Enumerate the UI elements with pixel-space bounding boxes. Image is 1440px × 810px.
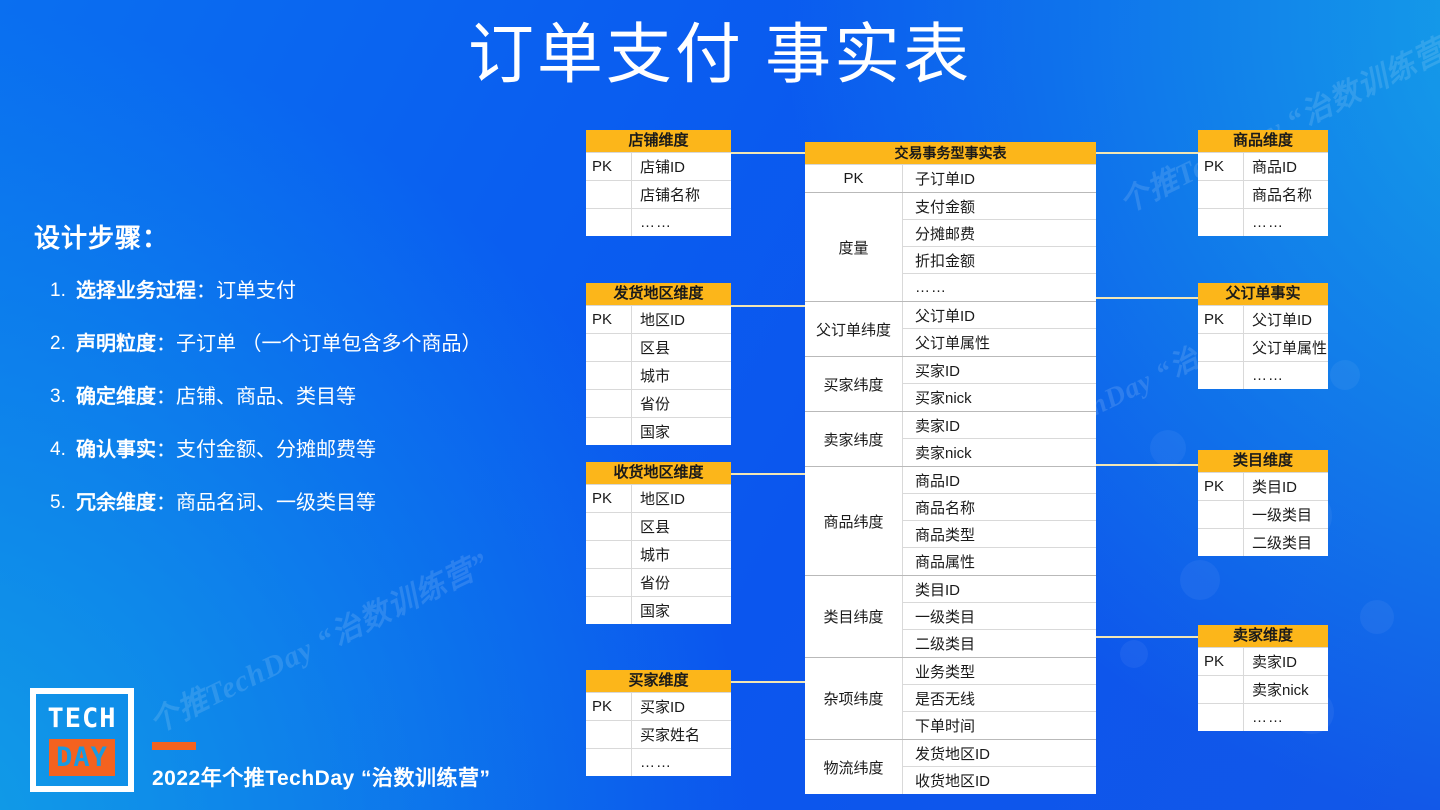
table-row: 二级类目 [1198, 529, 1328, 556]
fact-table-group: 买家纬度买家ID买家nick [805, 357, 1096, 412]
decorative-bubble [1150, 430, 1186, 466]
step-sep: ： [196, 280, 216, 302]
row-value: 区县 [632, 513, 731, 540]
fact-field: 商品属性 [903, 548, 1096, 575]
table-row: PK卖家ID [1198, 648, 1328, 676]
fact-table-body: PK子订单ID度量支付金额分摊邮费折扣金额……父订单纬度父订单ID父订单属性买家… [805, 165, 1096, 794]
table-row: 城市 [586, 362, 731, 390]
step-label: 冗余维度 [76, 492, 156, 514]
row-key: PK [586, 693, 632, 720]
dimension-table-title: 收货地区维度 [586, 462, 731, 485]
step-value: 店铺、商品、类目等 [176, 386, 356, 408]
decorative-bubble [1360, 600, 1394, 634]
row-value: 店铺ID [632, 153, 731, 180]
row-key [586, 334, 632, 361]
step-label: 声明粒度 [76, 333, 156, 355]
fact-table-group: 杂项纬度业务类型是否无线下单时间 [805, 658, 1096, 740]
fact-group-key: PK [805, 165, 903, 192]
fact-field: 是否无线 [903, 685, 1096, 712]
connector-line-seller [1096, 636, 1198, 638]
row-value: 地区ID [632, 485, 731, 512]
fact-field: 商品ID [903, 467, 1096, 494]
row-value: 商品名称 [1244, 181, 1328, 208]
table-row: 城市 [586, 541, 731, 569]
connector-line-recv-region [731, 473, 805, 475]
row-value: 一级类目 [1244, 501, 1328, 528]
fact-table-group: 物流纬度发货地区ID收货地区ID [805, 740, 1096, 794]
fact-field: 卖家nick [903, 439, 1096, 466]
table-row: PK父订单ID [1198, 306, 1328, 334]
fact-table-group: 卖家纬度卖家ID卖家nick [805, 412, 1096, 467]
fact-field: 子订单ID [903, 165, 1096, 192]
dimension-table-title: 父订单事实 [1198, 283, 1328, 306]
fact-table-group: PK子订单ID [805, 165, 1096, 193]
page-title: 订单支付 事实表 [0, 16, 1440, 94]
design-steps-heading: 设计步骤： [34, 218, 550, 255]
row-key [1198, 209, 1244, 236]
table-row: 国家 [586, 597, 731, 624]
row-key: PK [586, 485, 632, 512]
fact-table-parent-order: 父订单事实PK父订单ID父订单属性…… [1198, 283, 1328, 389]
table-row: …… [1198, 362, 1328, 389]
row-value: …… [1244, 704, 1328, 731]
table-row: 省份 [586, 390, 731, 418]
row-value: 国家 [632, 597, 731, 624]
dimension-table-seller: 卖家维度PK卖家ID卖家nick…… [1198, 625, 1328, 731]
table-row: 买家姓名 [586, 721, 731, 749]
row-key [586, 569, 632, 596]
fact-group-key: 商品纬度 [805, 467, 903, 575]
fact-table-title: 交易事务型事实表 [805, 142, 1096, 165]
fact-field: 买家nick [903, 384, 1096, 411]
table-row: 店铺名称 [586, 181, 731, 209]
techday-logo: TECH DAY [30, 688, 134, 792]
row-key [586, 362, 632, 389]
fact-field: 折扣金额 [903, 247, 1096, 274]
row-value: 卖家ID [1244, 648, 1328, 675]
fact-group-values: 子订单ID [903, 165, 1096, 192]
fact-field: …… [903, 274, 1096, 301]
row-value: …… [632, 749, 731, 776]
step-sep: ： [156, 492, 176, 514]
table-row: 一级类目 [1198, 501, 1328, 529]
dimension-table-item: 商品维度PK商品ID商品名称…… [1198, 130, 1328, 236]
fact-field: 收货地区ID [903, 767, 1096, 794]
row-key [586, 390, 632, 417]
connector-line-buyer [731, 681, 805, 683]
footer-text: 2022年个推TechDay “治数训练营” [152, 762, 491, 792]
row-key [586, 513, 632, 540]
connector-line-ship-region [731, 305, 805, 307]
fact-field: 父订单ID [903, 302, 1096, 329]
fact-group-values: 业务类型是否无线下单时间 [903, 658, 1096, 739]
fact-group-key: 父订单纬度 [805, 302, 903, 356]
row-key [1198, 362, 1244, 389]
row-key [586, 597, 632, 624]
step-value: 订单支付 [216, 280, 296, 302]
row-value: 国家 [632, 418, 731, 445]
fact-group-key: 物流纬度 [805, 740, 903, 794]
row-key [1198, 181, 1244, 208]
row-value: 父订单属性 [1244, 334, 1328, 361]
row-value: 父订单ID [1244, 306, 1328, 333]
step-label: 选择业务过程 [76, 280, 196, 302]
dimension-table-category: 类目维度PK类目ID一级类目二级类目 [1198, 450, 1328, 556]
row-key [1198, 529, 1244, 556]
fact-field: 商品类型 [903, 521, 1096, 548]
row-value: 地区ID [632, 306, 731, 333]
table-row: 区县 [586, 334, 731, 362]
connector-line-item [1096, 152, 1198, 154]
fact-field: 商品名称 [903, 494, 1096, 521]
connector-line-shop [731, 152, 805, 154]
fact-table: 交易事务型事实表 PK子订单ID度量支付金额分摊邮费折扣金额……父订单纬度父订单… [805, 142, 1096, 794]
step-value: 支付金额、分摊邮费等 [176, 439, 376, 461]
slide-canvas: 个推TechDay “治数训练营” 个推TechDay “治数训练营” 个推Te… [0, 0, 1440, 810]
table-row: 省份 [586, 569, 731, 597]
fact-field: 分摊邮费 [903, 220, 1096, 247]
row-key [586, 541, 632, 568]
row-value: …… [632, 209, 731, 236]
row-value: 省份 [632, 390, 731, 417]
list-item: 声明粒度：子订单 （一个订单包含多个商品） [76, 332, 550, 357]
fact-group-values: 类目ID一级类目二级类目 [903, 576, 1096, 657]
step-value: 商品名词、一级类目等 [176, 492, 376, 514]
step-sep: ： [156, 386, 176, 408]
fact-group-key: 类目纬度 [805, 576, 903, 657]
row-value: 二级类目 [1244, 529, 1328, 556]
step-label: 确定维度 [76, 386, 156, 408]
fact-field: 卖家ID [903, 412, 1096, 439]
fact-field: 类目ID [903, 576, 1096, 603]
row-key: PK [586, 306, 632, 333]
table-row: 区县 [586, 513, 731, 541]
list-item: 冗余维度：商品名词、一级类目等 [76, 491, 550, 516]
table-row: …… [1198, 704, 1328, 731]
footer-accent-bar [152, 742, 196, 750]
row-value: 商品ID [1244, 153, 1328, 180]
fact-field: 业务类型 [903, 658, 1096, 685]
fact-group-values: 买家ID买家nick [903, 357, 1096, 411]
table-row: …… [586, 749, 731, 776]
row-key [1198, 501, 1244, 528]
row-value: …… [1244, 362, 1328, 389]
fact-table-group: 商品纬度商品ID商品名称商品类型商品属性 [805, 467, 1096, 576]
row-value: 城市 [632, 362, 731, 389]
logo-day-text: DAY [49, 739, 115, 776]
row-key [1198, 334, 1244, 361]
table-row: 国家 [586, 418, 731, 445]
table-row: PK地区ID [586, 485, 731, 513]
fact-field: 下单时间 [903, 712, 1096, 739]
design-steps-panel: 设计步骤： 选择业务过程：订单支付 声明粒度：子订单 （一个订单包含多个商品） … [30, 218, 550, 544]
table-row: 父订单属性 [1198, 334, 1328, 362]
fact-table-group: 父订单纬度父订单ID父订单属性 [805, 302, 1096, 357]
logo-tech-text: TECH [47, 705, 116, 732]
decorative-bubble [1180, 560, 1220, 600]
fact-group-values: 卖家ID卖家nick [903, 412, 1096, 466]
dimension-table-recv-region: 收货地区维度PK地区ID区县城市省份国家 [586, 462, 731, 624]
table-row: …… [586, 209, 731, 236]
row-key [586, 181, 632, 208]
row-key: PK [586, 153, 632, 180]
table-row: PK地区ID [586, 306, 731, 334]
row-key: PK [1198, 306, 1244, 333]
row-value: 买家ID [632, 693, 731, 720]
dimension-table-title: 发货地区维度 [586, 283, 731, 306]
row-key: PK [1198, 648, 1244, 675]
fact-group-key: 买家纬度 [805, 357, 903, 411]
row-value: …… [1244, 209, 1328, 236]
row-value: 买家姓名 [632, 721, 731, 748]
fact-field: 父订单属性 [903, 329, 1096, 356]
step-value: 子订单 （一个订单包含多个商品） [176, 333, 482, 355]
fact-field: 买家ID [903, 357, 1096, 384]
dimension-table-buyer: 买家维度PK买家ID买家姓名…… [586, 670, 731, 776]
row-value: 卖家nick [1244, 676, 1328, 703]
fact-table-group: 度量支付金额分摊邮费折扣金额…… [805, 193, 1096, 302]
fact-group-values: 父订单ID父订单属性 [903, 302, 1096, 356]
row-key [586, 721, 632, 748]
row-key: PK [1198, 153, 1244, 180]
dimension-table-title: 卖家维度 [1198, 625, 1328, 648]
fact-table-group: 类目纬度类目ID一级类目二级类目 [805, 576, 1096, 658]
table-row: PK类目ID [1198, 473, 1328, 501]
list-item: 选择业务过程：订单支付 [76, 279, 550, 304]
watermark-text: 个推TechDay “治数训练营” [140, 539, 495, 742]
dimension-table-ship-region: 发货地区维度PK地区ID区县城市省份国家 [586, 283, 731, 445]
fact-group-values: 商品ID商品名称商品类型商品属性 [903, 467, 1096, 575]
step-sep: ： [156, 333, 176, 355]
list-item: 确认事实：支付金额、分摊邮费等 [76, 438, 550, 463]
row-value: 类目ID [1244, 473, 1328, 500]
table-row: 卖家nick [1198, 676, 1328, 704]
table-row: PK店铺ID [586, 153, 731, 181]
fact-group-values: 支付金额分摊邮费折扣金额…… [903, 193, 1096, 301]
dimension-table-title: 店铺维度 [586, 130, 731, 153]
fact-group-key: 杂项纬度 [805, 658, 903, 739]
dimension-table-title: 商品维度 [1198, 130, 1328, 153]
row-value: 店铺名称 [632, 181, 731, 208]
connector-line-category [1096, 464, 1198, 466]
row-value: 城市 [632, 541, 731, 568]
dimension-table-title: 类目维度 [1198, 450, 1328, 473]
dimension-table-shop: 店铺维度PK店铺ID店铺名称…… [586, 130, 731, 236]
row-value: 省份 [632, 569, 731, 596]
design-steps-list: 选择业务过程：订单支付 声明粒度：子订单 （一个订单包含多个商品） 确定维度：店… [30, 279, 550, 516]
fact-group-key: 卖家纬度 [805, 412, 903, 466]
decorative-bubble [1120, 640, 1148, 668]
row-key [586, 749, 632, 776]
row-key [1198, 704, 1244, 731]
row-value: 区县 [632, 334, 731, 361]
row-key: PK [1198, 473, 1244, 500]
row-key [1198, 676, 1244, 703]
list-item: 确定维度：店铺、商品、类目等 [76, 385, 550, 410]
row-key [586, 418, 632, 445]
fact-group-values: 发货地区ID收货地区ID [903, 740, 1096, 794]
table-row: PK买家ID [586, 693, 731, 721]
step-sep: ： [156, 439, 176, 461]
fact-group-key: 度量 [805, 193, 903, 301]
fact-field: 一级类目 [903, 603, 1096, 630]
table-row: …… [1198, 209, 1328, 236]
table-row: PK商品ID [1198, 153, 1328, 181]
fact-field: 支付金额 [903, 193, 1096, 220]
connector-line-parent-order [1096, 297, 1198, 299]
step-label: 确认事实 [76, 439, 156, 461]
fact-field: 二级类目 [903, 630, 1096, 657]
dimension-table-title: 买家维度 [586, 670, 731, 693]
decorative-bubble [1330, 360, 1360, 390]
row-key [586, 209, 632, 236]
fact-field: 发货地区ID [903, 740, 1096, 767]
table-row: 商品名称 [1198, 181, 1328, 209]
